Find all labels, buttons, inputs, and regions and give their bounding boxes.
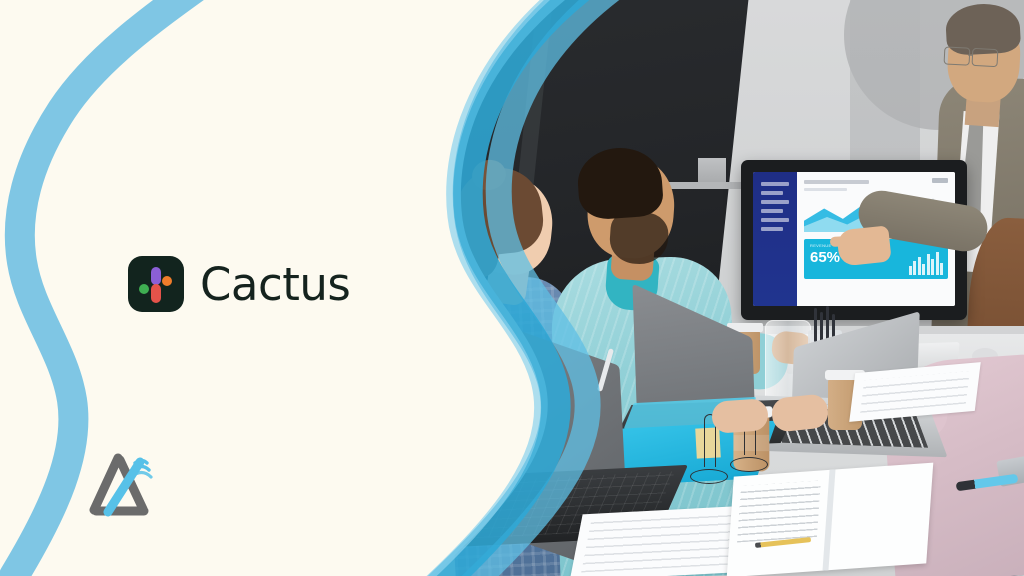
cactus-logo-mark bbox=[128, 256, 184, 312]
open-notebook bbox=[727, 463, 934, 576]
standing-man-fingers bbox=[830, 235, 868, 247]
slide-canvas: REVENUE 65% bbox=[0, 0, 1024, 576]
purple-bar-icon bbox=[151, 267, 161, 285]
dashboard-sidebar bbox=[753, 172, 797, 306]
orange-dot-icon bbox=[162, 276, 172, 286]
brand-name: Cactus bbox=[200, 262, 350, 307]
woman-pink-sweater-hand-left bbox=[711, 398, 769, 434]
dashboard-title-placeholder bbox=[804, 180, 869, 184]
monitor-stand-neck bbox=[698, 158, 726, 184]
metric-mini-bars bbox=[909, 251, 944, 275]
brand-lockup: Cactus bbox=[128, 256, 350, 312]
green-dot-icon bbox=[139, 284, 149, 294]
triangle-arrow-logo bbox=[88, 452, 158, 518]
dashboard-logo bbox=[932, 178, 948, 183]
office-meeting-photo: REVENUE 65% bbox=[400, 0, 1024, 576]
red-bar-icon bbox=[151, 284, 161, 303]
dashboard-subtitle-placeholder bbox=[804, 188, 847, 191]
glasses-icon bbox=[944, 46, 1007, 65]
